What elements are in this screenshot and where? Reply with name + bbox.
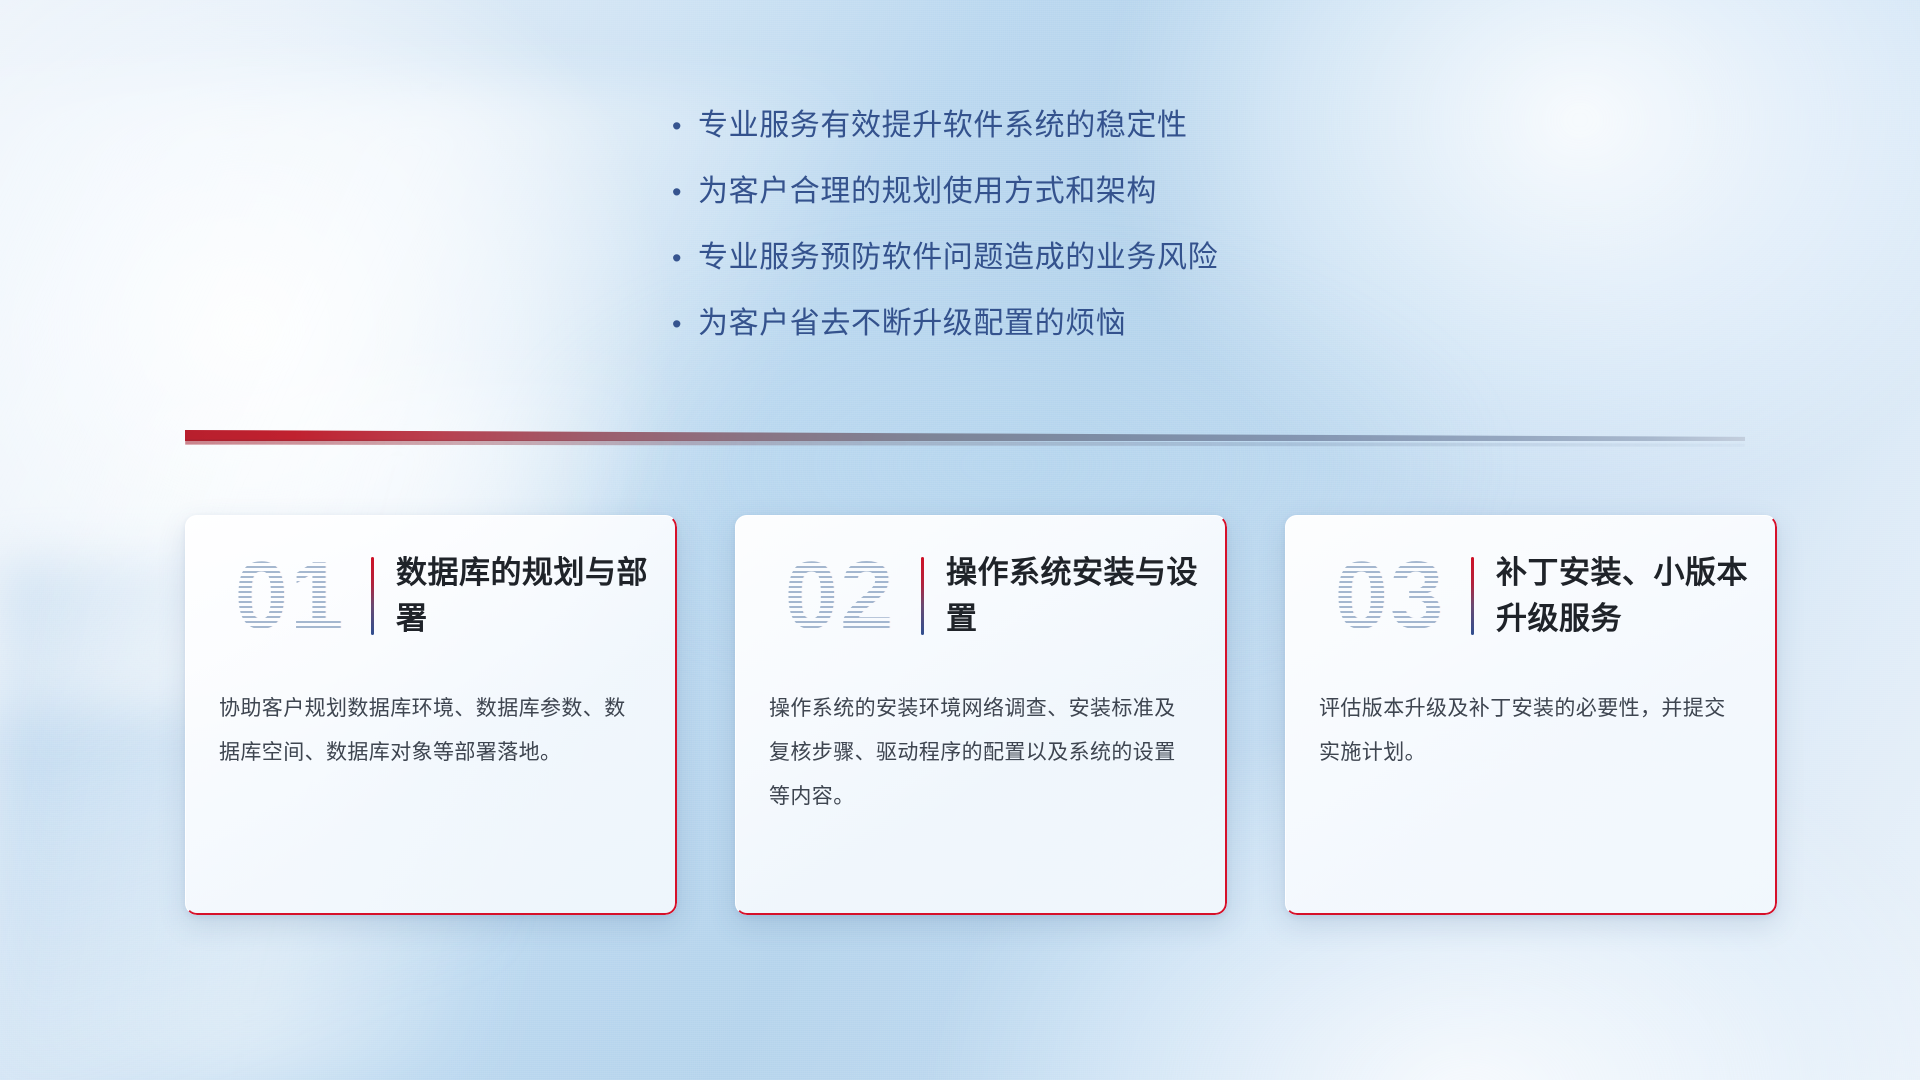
card-vertical-divider (371, 557, 374, 635)
bullet-list: • 专业服务有效提升软件系统的稳定性 • 为客户合理的规划使用方式和架构 • 专… (668, 104, 1488, 368)
card-vertical-divider (1471, 557, 1474, 635)
list-item: • 专业服务有效提升软件系统的稳定性 (668, 104, 1488, 148)
card-header: 01 数据库的规划与部署 (185, 521, 677, 671)
card-number: 03 (1315, 541, 1465, 651)
bullet-dot-icon: • (668, 170, 698, 214)
service-card-01[interactable]: 01 数据库的规划与部署 协助客户规划数据库环境、数据库参数、数据库空间、数据库… (185, 515, 677, 915)
service-card-03[interactable]: 03 补丁安装、小版本升级服务 评估版本升级及补丁安装的必要性，并提交实施计划。 (1285, 515, 1777, 915)
bullet-dot-icon: • (668, 302, 698, 346)
card-title: 补丁安装、小版本升级服务 (1496, 550, 1777, 642)
service-card-02[interactable]: 02 操作系统安装与设置 操作系统的安装环境网络调查、安装标准及复核步骤、驱动程… (735, 515, 1227, 915)
bullet-dot-icon: • (668, 236, 698, 280)
bullet-text: 为客户合理的规划使用方式和架构 (698, 170, 1157, 214)
list-item: • 为客户合理的规划使用方式和架构 (668, 170, 1488, 214)
card-title: 操作系统安装与设置 (946, 550, 1227, 642)
card-body-text: 评估版本升级及补丁安装的必要性，并提交实施计划。 (1319, 687, 1737, 775)
card-vertical-divider (921, 557, 924, 635)
bullet-text: 专业服务有效提升软件系统的稳定性 (698, 104, 1188, 148)
card-number: 01 (215, 541, 365, 651)
card-body-text: 协助客户规划数据库环境、数据库参数、数据库空间、数据库对象等部署落地。 (219, 687, 637, 775)
card-body-text: 操作系统的安装环境网络调查、安装标准及复核步骤、驱动程序的配置以及系统的设置等内… (769, 687, 1187, 819)
card-title: 数据库的规划与部署 (396, 550, 677, 642)
slide-stage: • 专业服务有效提升软件系统的稳定性 • 为客户合理的规划使用方式和架构 • 专… (0, 0, 1920, 1080)
card-row: 01 数据库的规划与部署 协助客户规划数据库环境、数据库参数、数据库空间、数据库… (0, 515, 1920, 935)
list-item: • 专业服务预防软件问题造成的业务风险 (668, 236, 1488, 280)
bullet-text: 为客户省去不断升级配置的烦恼 (698, 302, 1126, 346)
bullet-text: 专业服务预防软件问题造成的业务风险 (698, 236, 1218, 280)
bullet-dot-icon: • (668, 104, 698, 148)
list-item: • 为客户省去不断升级配置的烦恼 (668, 302, 1488, 346)
divider-highlight (185, 430, 1745, 441)
card-header: 02 操作系统安装与设置 (735, 521, 1227, 671)
section-divider (185, 430, 1745, 452)
card-number: 02 (765, 541, 915, 651)
card-header: 03 补丁安装、小版本升级服务 (1285, 521, 1777, 671)
